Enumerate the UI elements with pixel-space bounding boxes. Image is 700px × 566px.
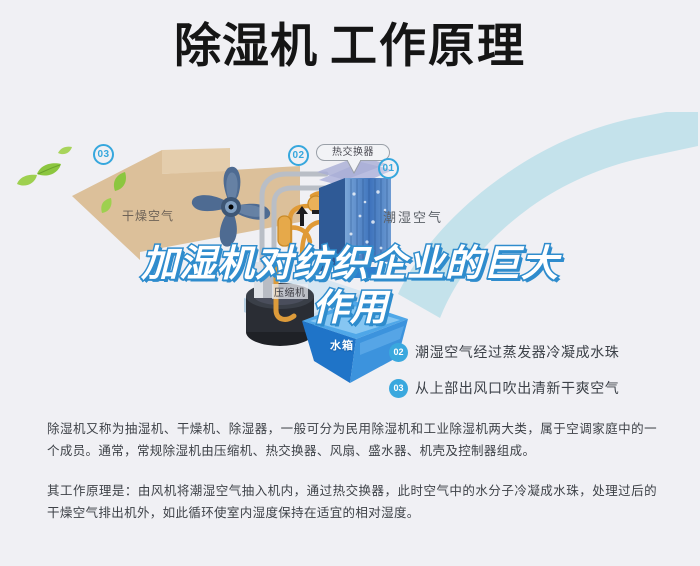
- leaf-icon: [58, 146, 72, 156]
- leaf-icon: [16, 174, 38, 188]
- heat-exchanger-callout-label: 热交换器: [316, 144, 390, 161]
- legend-item: 02 潮湿空气经过蒸发器冷凝成水珠: [389, 334, 689, 370]
- legend-text: 潮湿空气经过蒸发器冷凝成水珠: [415, 342, 619, 362]
- page-title: 除湿机工作原理: [0, 22, 700, 69]
- humid-air-label: 潮湿空气: [383, 207, 443, 226]
- leaf-icon: [112, 172, 128, 192]
- body-paragraph-2: 其工作原理是：由风机将潮湿空气抽入机内，通过热交换器，此时空气中的水分子冷凝成水…: [47, 480, 657, 524]
- humid-air-swoosh-icon: [398, 112, 698, 342]
- page-title-part-1: 除湿机: [174, 22, 318, 69]
- compressor-label: 压缩机: [272, 284, 308, 299]
- diagram-marker-03: 03: [93, 144, 114, 165]
- diagram-marker-01: 01: [378, 158, 399, 179]
- body-paragraph-1: 除湿机又称为抽湿机、干燥机、除湿器，一般可分为民用除湿机和工业除湿机两大类，属于…: [47, 418, 657, 462]
- legend-badge: 03: [389, 379, 408, 398]
- article-body: 除湿机又称为抽湿机、干燥机、除湿器，一般可分为民用除湿机和工业除湿机两大类，属于…: [47, 418, 657, 524]
- process-legend-list: 02 潮湿空气经过蒸发器冷凝成水珠 03 从上部出风口吹出清新干爽空气: [389, 334, 689, 406]
- callout-tail-icon: [346, 160, 362, 174]
- leaf-icon: [36, 162, 62, 178]
- dehumidifier-diagram: 干燥空气: [0, 118, 700, 403]
- leaf-icon: [100, 198, 113, 214]
- dry-air-label: 干燥空气: [122, 207, 174, 224]
- page-title-part-2: 工作原理: [330, 22, 526, 69]
- legend-item: 03 从上部出风口吹出清新干爽空气: [389, 370, 689, 406]
- poster-canvas: 除湿机工作原理 干燥空气: [0, 0, 700, 566]
- legend-text: 从上部出风口吹出清新干爽空气: [415, 378, 619, 398]
- heat-exchanger-callout: 热交换器: [316, 144, 390, 161]
- diagram-marker-02: 02: [288, 145, 309, 166]
- water-tank-label: 水箱: [330, 337, 354, 353]
- legend-badge: 02: [389, 343, 408, 362]
